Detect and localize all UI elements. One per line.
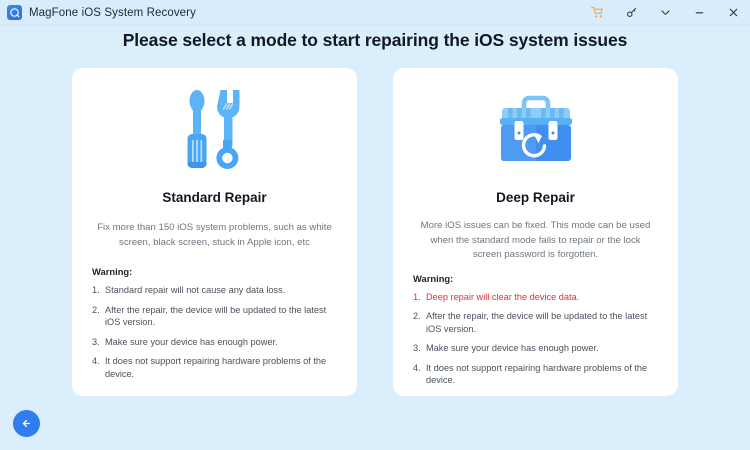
back-button[interactable] (13, 410, 40, 437)
warning-text: After the repair, the device will be upd… (426, 310, 658, 335)
warning-block-standard: Warning: 1. Standard repair will not cau… (92, 266, 337, 381)
screwdriver-wrench-icon (72, 68, 357, 180)
warning-number: 2. (413, 310, 426, 335)
warning-item-danger: 1. Deep repair will clear the device dat… (413, 291, 658, 304)
warning-text: It does not support repairing hardware p… (426, 362, 658, 387)
mode-card-deep[interactable]: Deep Repair More iOS issues can be fixed… (393, 68, 678, 396)
warning-number: 1. (92, 284, 105, 297)
warning-number: 4. (92, 355, 105, 380)
close-icon[interactable] (716, 0, 750, 26)
key-icon[interactable] (614, 0, 648, 26)
warning-text: Deep repair will clear the device data. (426, 291, 658, 304)
mode-description-deep: More iOS issues can be fixed. This mode … (415, 219, 656, 263)
mode-card-standard[interactable]: Standard Repair Fix more than 150 iOS sy… (72, 68, 357, 396)
title-bar: MagFone iOS System Recovery (0, 0, 750, 26)
mode-card-list: Standard Repair Fix more than 150 iOS sy… (0, 68, 750, 396)
magfone-app-icon (7, 5, 22, 20)
warning-item: 4. It does not support repairing hardwar… (413, 362, 658, 387)
cart-icon[interactable] (580, 0, 614, 26)
app-window: MagFone iOS System Recovery (0, 0, 750, 450)
warning-number: 3. (92, 336, 105, 349)
warning-item: 3. Make sure your device has enough powe… (92, 336, 337, 349)
warning-item: 4. It does not support repairing hardwar… (92, 355, 337, 380)
warning-number: 3. (413, 342, 426, 355)
minimize-icon[interactable] (682, 0, 716, 26)
app-title: MagFone iOS System Recovery (29, 7, 196, 19)
warning-text: Make sure your device has enough power. (426, 342, 658, 355)
chevron-down-icon[interactable] (648, 0, 682, 26)
warning-text: It does not support repairing hardware p… (105, 355, 337, 380)
warning-block-deep: Warning: 1. Deep repair will clear the d… (413, 273, 658, 388)
warning-text: Standard repair will not cause any data … (105, 284, 337, 297)
warning-number: 4. (413, 362, 426, 387)
warning-text: After the repair, the device will be upd… (105, 304, 337, 329)
toolbox-refresh-icon (393, 68, 678, 180)
warning-text: Make sure your device has enough power. (105, 336, 337, 349)
warning-item: 1. Standard repair will not cause any da… (92, 284, 337, 297)
warning-item: 3. Make sure your device has enough powe… (413, 342, 658, 355)
warning-item: 2. After the repair, the device will be … (92, 304, 337, 329)
warning-label: Warning: (92, 266, 337, 277)
page-title: Please select a mode to start repairing … (0, 30, 750, 51)
mode-title-deep: Deep Repair (393, 190, 678, 205)
warning-number: 1. (413, 291, 426, 304)
warning-number: 2. (92, 304, 105, 329)
warning-label: Warning: (413, 273, 658, 284)
mode-title-standard: Standard Repair (72, 190, 357, 205)
mode-description-standard: Fix more than 150 iOS system problems, s… (94, 221, 335, 250)
warning-item: 2. After the repair, the device will be … (413, 310, 658, 335)
arrow-left-icon (19, 416, 34, 431)
